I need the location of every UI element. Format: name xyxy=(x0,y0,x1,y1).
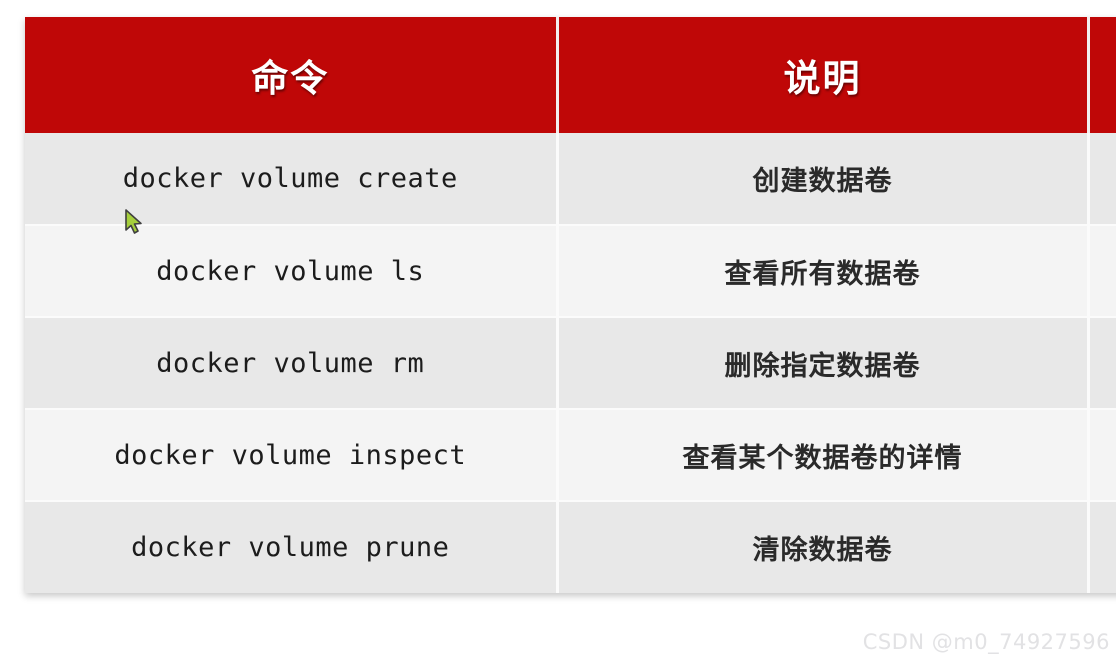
table-header-row: 命令 说明 xyxy=(25,17,1116,133)
table-row: docker volume rm 删除指定数据卷 xyxy=(25,317,1116,409)
cell-description: 查看某个数据卷的详情 xyxy=(557,409,1088,501)
table-row: docker volume prune 清除数据卷 xyxy=(25,501,1116,593)
cell-description: 清除数据卷 xyxy=(557,501,1088,593)
cell-description: 创建数据卷 xyxy=(557,133,1088,225)
docker-volume-command-table: 命令 说明 docker volume create 创建数据卷 docker … xyxy=(25,17,1116,593)
column-header-description: 说明 xyxy=(557,17,1088,133)
csdn-watermark: CSDN @m0_74927596 xyxy=(863,630,1110,654)
table-row: docker volume create 创建数据卷 xyxy=(25,133,1116,225)
cell-description: 查看所有数据卷 xyxy=(557,225,1088,317)
cell-command: docker volume inspect xyxy=(25,409,557,501)
cell-extra xyxy=(1088,501,1116,593)
cell-command: docker volume ls xyxy=(25,225,557,317)
cell-extra xyxy=(1088,317,1116,409)
cell-extra xyxy=(1088,225,1116,317)
table-row: docker volume ls 查看所有数据卷 xyxy=(25,225,1116,317)
table-row: docker volume inspect 查看某个数据卷的详情 xyxy=(25,409,1116,501)
cell-command: docker volume prune xyxy=(25,501,557,593)
table-header: 命令 说明 xyxy=(25,17,1116,133)
cell-command: docker volume create xyxy=(25,133,557,225)
command-table-container: 命令 说明 docker volume create 创建数据卷 docker … xyxy=(25,17,1116,593)
cell-description: 删除指定数据卷 xyxy=(557,317,1088,409)
table-body: docker volume create 创建数据卷 docker volume… xyxy=(25,133,1116,593)
cell-extra xyxy=(1088,409,1116,501)
cell-command: docker volume rm xyxy=(25,317,557,409)
column-header-extra xyxy=(1088,17,1116,133)
cell-extra xyxy=(1088,133,1116,225)
column-header-command: 命令 xyxy=(25,17,557,133)
